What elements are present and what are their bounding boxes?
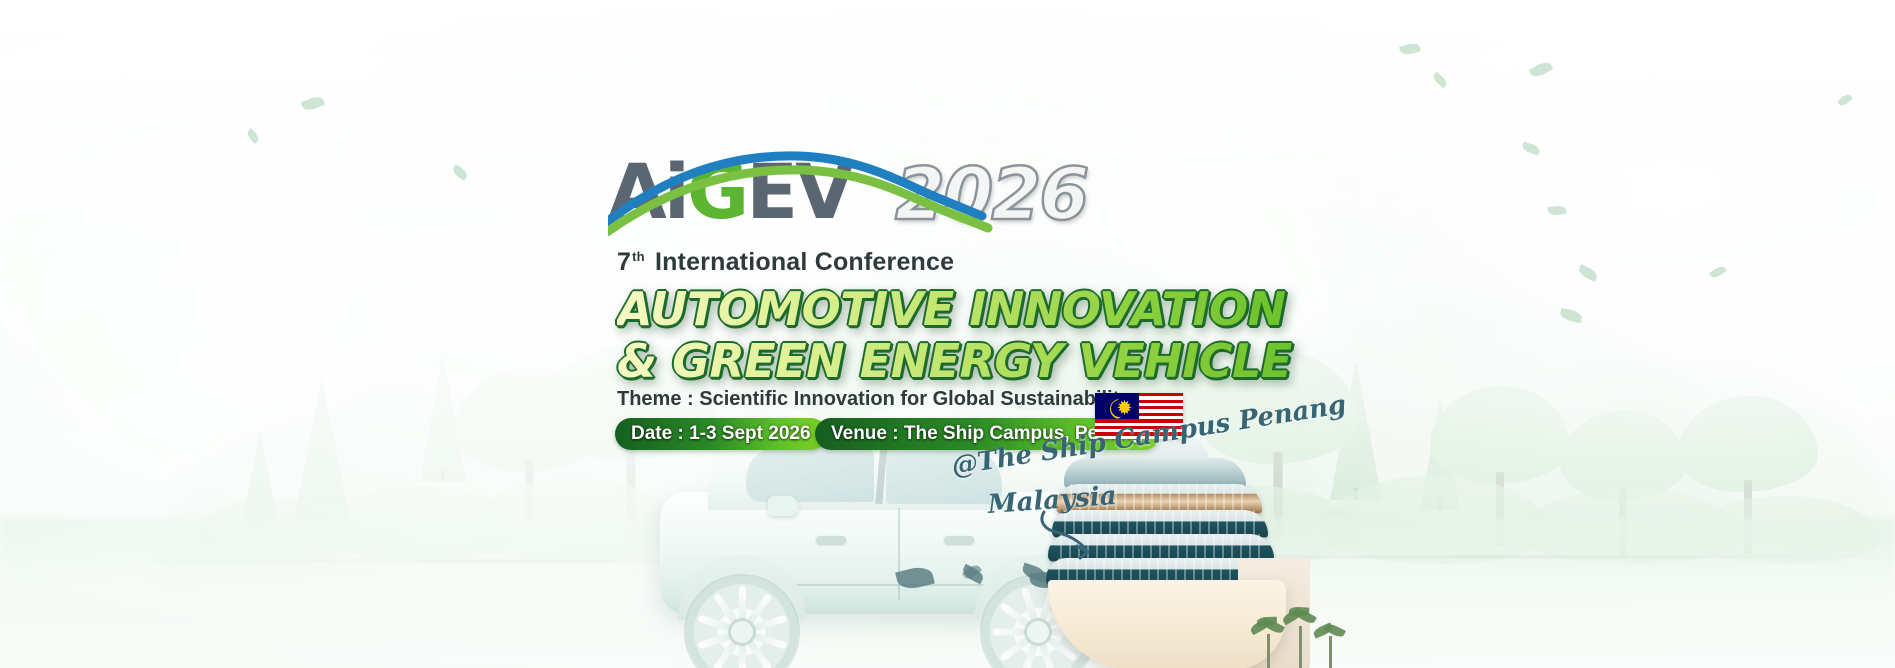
logo-year: 2026 <box>895 152 1087 236</box>
car-side-mirror <box>768 496 798 516</box>
main-title-line-1: AUTOMOTIVE INNOVATION <box>617 282 1286 336</box>
car-door-handle <box>944 536 974 544</box>
car-door-handle <box>816 536 846 544</box>
edition-ordinal: th <box>631 249 648 264</box>
aigev-logo: AiGEV 2026 <box>608 148 1128 236</box>
edition-number: 7 <box>617 248 631 276</box>
flag-canton <box>1095 393 1139 419</box>
mist-blob <box>1390 20 1610 210</box>
palm-tree <box>1288 612 1312 668</box>
logo-green-letter: G <box>687 147 746 236</box>
logo-suffix: EV <box>746 147 851 236</box>
car-window-front <box>746 446 874 502</box>
logo-wordmark: AiGEV <box>608 148 851 236</box>
conference-label: International Conference <box>655 248 954 276</box>
main-title-line-2: & GREEN ENERGY VEHICLE <box>617 334 1292 388</box>
conference-theme: Theme : Scientific Innovation for Global… <box>617 388 1130 411</box>
building-hull <box>1048 580 1286 668</box>
conference-edition-heading: 7th International Conference <box>617 248 954 277</box>
mist-blob <box>330 60 570 270</box>
palm-tree <box>1318 626 1342 668</box>
palm-tree <box>1256 622 1280 668</box>
date-badge: Date : 1-3 Sept 2026 <box>615 418 827 450</box>
logo-prefix: Ai <box>608 147 687 236</box>
curved-arrow-icon <box>1036 508 1096 564</box>
car-door-seam <box>898 508 900 600</box>
conference-banner: AiGEV 2026 7th International Conference … <box>0 0 1895 668</box>
